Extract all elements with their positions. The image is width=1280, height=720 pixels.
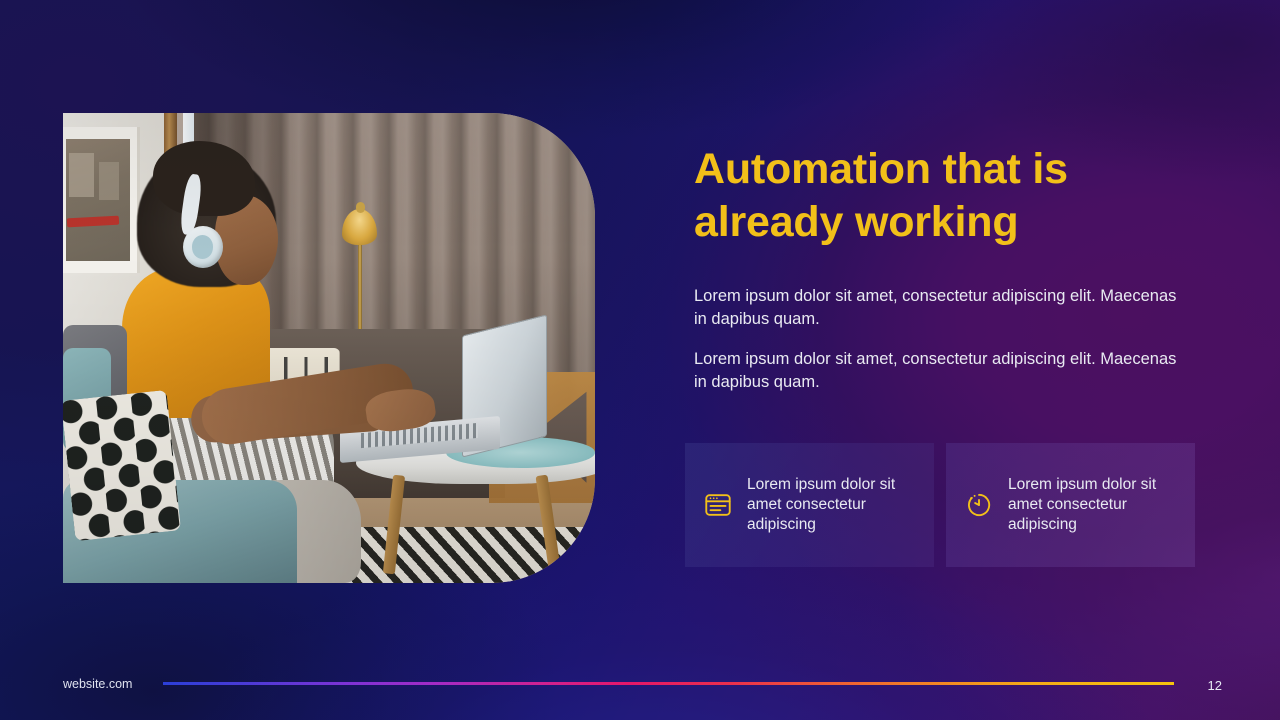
photo-canvas [63,113,595,583]
footer-gradient-rule [163,682,1174,686]
feature-card-2-label: Lorem ipsum dolor sit amet consectetur a… [1008,475,1177,534]
slide-body: Lorem ipsum dolor sit amet, consectetur … [694,285,1179,395]
hero-photo [63,113,595,583]
body-paragraph-1: Lorem ipsum dolor sit amet, consectetur … [694,285,1179,332]
footer-website[interactable]: website.com [63,677,132,691]
feature-card-1[interactable]: Lorem ipsum dolor sit amet consectetur a… [685,443,934,567]
browser-window-icon [703,490,733,520]
footer-page-number: 12 [1208,678,1222,693]
body-paragraph-2: Lorem ipsum dolor sit amet, consectetur … [694,348,1179,395]
feature-card-1-label: Lorem ipsum dolor sit amet consectetur a… [747,475,916,534]
feature-cards: Lorem ipsum dolor sit amet consectetur a… [685,443,1195,567]
photo-vignette [63,113,595,583]
clock-timer-icon [964,490,994,520]
feature-card-2[interactable]: Lorem ipsum dolor sit amet consectetur a… [946,443,1195,567]
slide-title: Automation that is already working [694,143,1164,249]
